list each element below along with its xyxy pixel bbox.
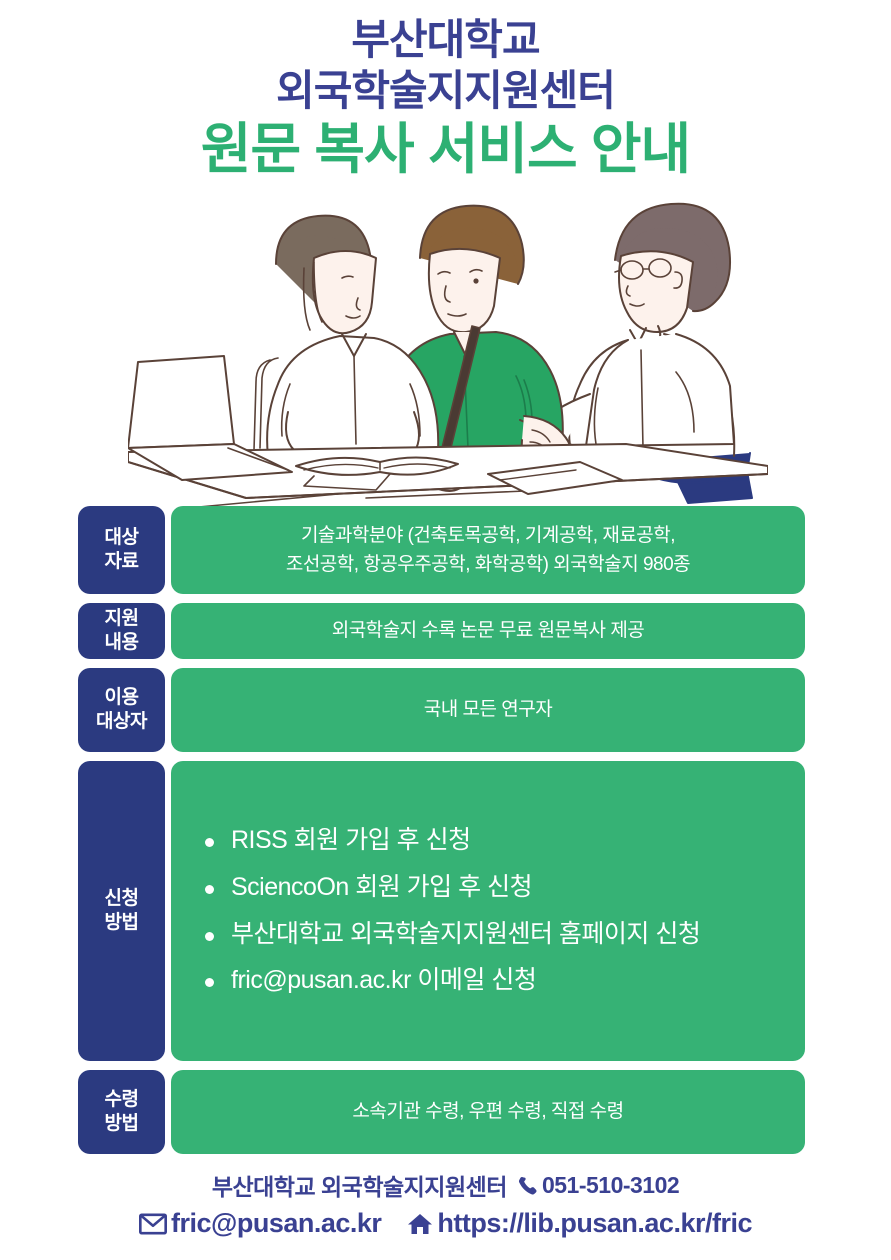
footer-phone-item: 051-510-3102 [517,1172,679,1199]
footer-phone-number[interactable]: 051-510-3102 [542,1172,679,1199]
envelope-icon [139,1213,167,1235]
table-row: 이용 대상자 국내 모든 연구자 [78,668,805,752]
table-row: 신청 방법 RISS 회원 가입 후 신청 SciencoOn 회원 가입 후 … [78,761,805,1061]
row-text: 소속기관 수령, 우편 수령, 직접 수령 [352,1097,623,1126]
title-line-university: 부산대학교 [0,14,891,65]
row-content-application-method: RISS 회원 가입 후 신청 SciencoOn 회원 가입 후 신청 부산대… [171,761,805,1061]
poster-footer: 부산대학교 외국학술지지원센터 051-510-3102 fric [0,1168,891,1239]
row-text: 기술과학분야 (건축토목공학, 기계공학, 재료공학, 조선공학, 항공우주공학… [286,521,690,580]
row-content-target-material: 기술과학분야 (건축토목공학, 기계공학, 재료공학, 조선공학, 항공우주공학… [171,506,805,594]
title-line-center: 외국학술지지원센터 [0,65,891,116]
footer-organization-name: 부산대학교 외국학술지지원센터 [212,1168,507,1202]
footer-email-address[interactable]: fric@pusan.ac.kr [171,1208,381,1239]
footer-line-organization-phone: 부산대학교 외국학술지지원센터 051-510-3102 [0,1168,891,1202]
application-method-list: RISS 회원 가입 후 신청 SciencoOn 회원 가입 후 신청 부산대… [199,811,700,1011]
list-item: SciencoOn 회원 가입 후 신청 [199,871,700,905]
meeting-illustration-svg [128,198,768,514]
poster-title-block: 부산대학교 외국학술지지원센터 원문 복사 서비스 안내 [0,14,891,182]
footer-email-item: fric@pusan.ac.kr [139,1208,381,1239]
home-icon [407,1212,433,1236]
poster-root: 부산대학교 외국학술지지원센터 원문 복사 서비스 안내 [0,0,891,1260]
footer-line-email-website: fric@pusan.ac.kr https://lib.pusan.ac.kr… [0,1208,891,1239]
list-item: 부산대학교 외국학술지지원센터 홈페이지 신청 [199,918,700,952]
info-rows: 대상 자료 기술과학분야 (건축토목공학, 기계공학, 재료공학, 조선공학, … [78,506,805,1163]
phone-icon [517,1175,538,1196]
row-label-support-detail: 지원 내용 [78,603,165,659]
meeting-illustration [128,198,768,514]
footer-website-item: https://lib.pusan.ac.kr/fric [407,1208,752,1239]
list-item: fric@pusan.ac.kr 이메일 신청 [199,964,700,998]
table-row: 대상 자료 기술과학분야 (건축토목공학, 기계공학, 재료공학, 조선공학, … [78,506,805,594]
row-text: 외국학술지 수록 논문 무료 원문복사 제공 [332,616,645,645]
list-item: RISS 회원 가입 후 신청 [199,824,700,858]
table-row: 수령 방법 소속기관 수령, 우편 수령, 직접 수령 [78,1070,805,1154]
title-line-service: 원문 복사 서비스 안내 [0,117,891,182]
row-text: 국내 모든 연구자 [424,695,552,724]
row-label-eligible-users: 이용 대상자 [78,668,165,752]
row-content-delivery-method: 소속기관 수령, 우편 수령, 직접 수령 [171,1070,805,1154]
row-label-target-material: 대상 자료 [78,506,165,594]
row-content-eligible-users: 국내 모든 연구자 [171,668,805,752]
footer-website-url[interactable]: https://lib.pusan.ac.kr/fric [437,1208,752,1239]
row-label-application-method: 신청 방법 [78,761,165,1061]
table-row: 지원 내용 외국학술지 수록 논문 무료 원문복사 제공 [78,603,805,659]
row-content-support-detail: 외국학술지 수록 논문 무료 원문복사 제공 [171,603,805,659]
row-label-delivery-method: 수령 방법 [78,1070,165,1154]
